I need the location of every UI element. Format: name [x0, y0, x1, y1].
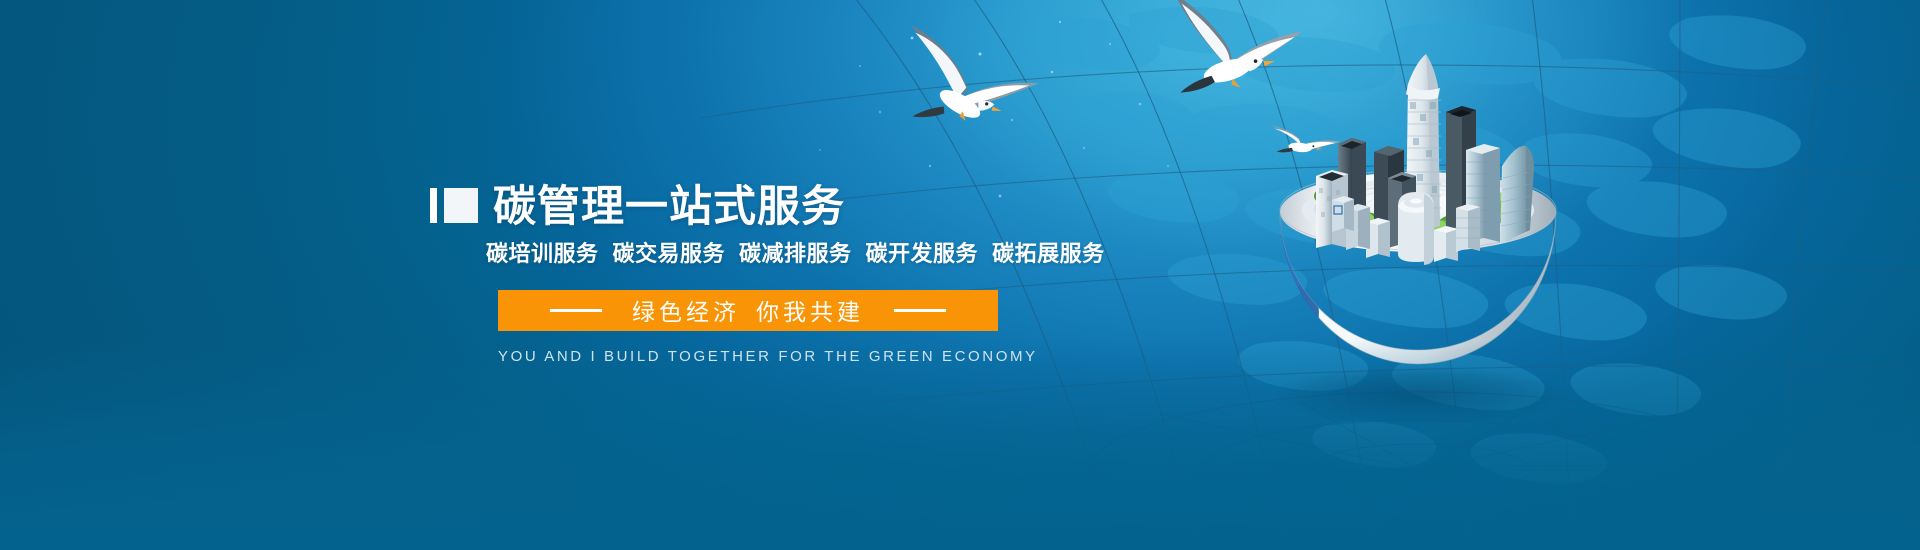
- mark-thin-bar: [430, 188, 437, 223]
- title-row: 碳管理一站式服务: [430, 185, 1130, 231]
- slogan-primary: 绿色经济: [632, 299, 740, 325]
- service-item-1[interactable]: 碳培训服务: [486, 241, 599, 266]
- slogan-dash-left: [550, 309, 602, 312]
- slogan-text: 绿色经济你我共建: [632, 293, 864, 327]
- service-item-4[interactable]: 碳开发服务: [866, 241, 979, 266]
- slogan-banner: 绿色经济你我共建: [498, 290, 998, 331]
- slogan-dash-right: [894, 309, 946, 312]
- page-title: 碳管理一站式服务: [493, 185, 845, 231]
- background-bottom-fade: [0, 340, 1920, 550]
- city-skyline: [1270, 40, 1570, 270]
- mark-square-block: [444, 188, 478, 223]
- banner-content: 碳管理一站式服务 碳培训服务碳交易服务碳减排服务碳开发服务碳拓展服务 绿色经济你…: [430, 185, 1130, 365]
- service-item-2[interactable]: 碳交易服务: [613, 241, 726, 266]
- bar-and-square-mark-icon: [430, 188, 478, 223]
- english-tagline: YOU AND I BUILD TOGETHER FOR THE GREEN E…: [498, 348, 998, 365]
- carbon-management-banner: 碳管理一站式服务 碳培训服务碳交易服务碳减排服务碳开发服务碳拓展服务 绿色经济你…: [0, 0, 1920, 550]
- service-item-5[interactable]: 碳拓展服务: [992, 241, 1105, 266]
- service-item-3[interactable]: 碳减排服务: [739, 241, 852, 266]
- service-list: 碳培训服务碳交易服务碳减排服务碳开发服务碳拓展服务: [486, 236, 1130, 268]
- slogan-secondary: 你我共建: [756, 299, 864, 325]
